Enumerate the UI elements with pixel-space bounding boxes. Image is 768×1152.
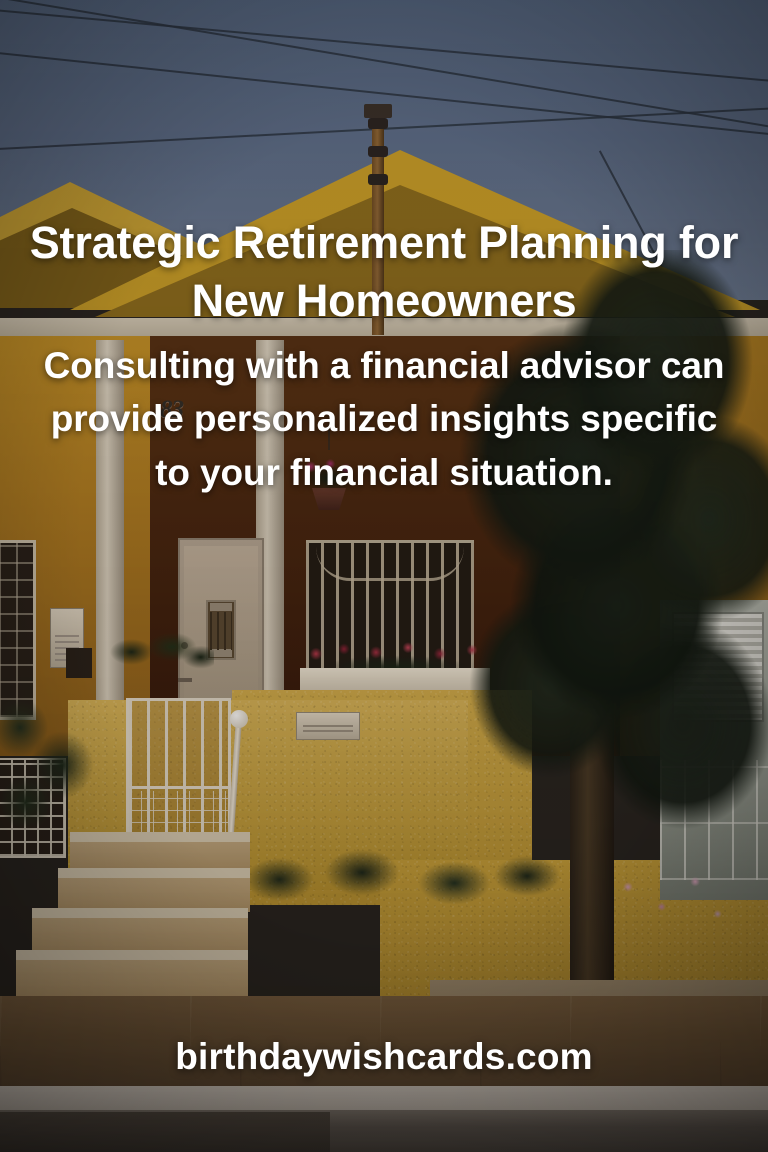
- site-watermark: birthdaywishcards.com: [0, 1036, 768, 1078]
- headline: Strategic Retirement Planning for New Ho…: [24, 214, 744, 329]
- social-card: 83 Strategic Retirement Planning for New…: [0, 0, 768, 1152]
- subheadline: Consulting with a financial advisor can …: [34, 339, 734, 499]
- text-overlay: Strategic Retirement Planning for New Ho…: [0, 0, 768, 1152]
